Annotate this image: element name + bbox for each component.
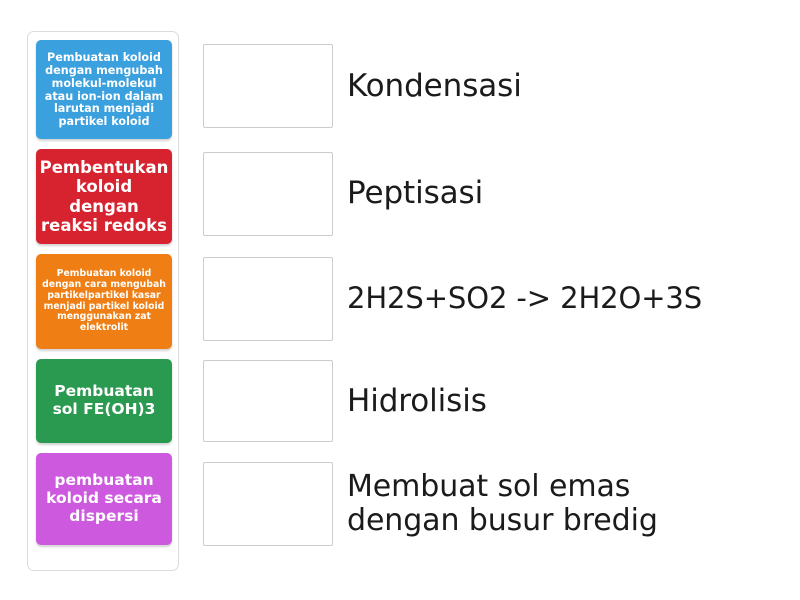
draggable-tile-label: Pembuatan sol FE(OH)3 [41,383,167,419]
answer-label-hidrolisis: Hidrolisis [347,384,487,419]
draggable-tile-redoks[interactable]: Pembentukan koloid dengan reaksi redoks [36,149,172,244]
answer-row-kondensasi: Kondensasi [203,31,783,141]
answer-rows: Kondensasi Peptisasi 2H2S+SO2 -> 2H2O+3S… [203,31,783,556]
dropzone-reaksi[interactable] [203,257,333,341]
draggable-tile-label: Pembuatan koloid dengan mengubah molekul… [41,51,167,129]
dropzone-busur-bredig[interactable] [203,462,333,546]
answer-row-hidrolisis: Hidrolisis [203,351,783,451]
draggable-tiles-panel: Pembuatan koloid dengan mengubah molekul… [27,31,179,571]
draggable-tile-sol-feoh3[interactable]: Pembuatan sol FE(OH)3 [36,359,172,443]
answer-label-peptisasi: Peptisasi [347,176,483,211]
draggable-tile-peptisasi[interactable]: Pembuatan koloid dengan cara mengubah pa… [36,254,172,349]
answer-label-reaksi: 2H2S+SO2 -> 2H2O+3S [347,282,702,314]
draggable-tile-label: pembuatan koloid secara dispersi [41,472,167,526]
draggable-tile-dispersi[interactable]: pembuatan koloid secara dispersi [36,453,172,545]
draggable-tile-label: Pembuatan koloid dengan cara mengubah pa… [41,269,167,334]
answer-label-kondensasi: Kondensasi [347,69,522,104]
draggable-tile-kondensasi[interactable]: Pembuatan koloid dengan mengubah molekul… [36,40,172,139]
activity-stage: Pembuatan koloid dengan mengubah molekul… [0,0,800,600]
answer-row-peptisasi: Peptisasi [203,141,783,246]
draggable-tile-label: Pembentukan koloid dengan reaksi redoks [40,158,169,235]
dropzone-hidrolisis[interactable] [203,360,333,442]
answer-row-reaksi: 2H2S+SO2 -> 2H2O+3S [203,246,783,351]
dropzone-kondensasi[interactable] [203,44,333,128]
answer-label-busur-bredig: Membuat sol emas dengan busur bredig [347,470,658,537]
dropzone-peptisasi[interactable] [203,152,333,236]
answer-row-busur-bredig: Membuat sol emas dengan busur bredig [203,451,783,556]
